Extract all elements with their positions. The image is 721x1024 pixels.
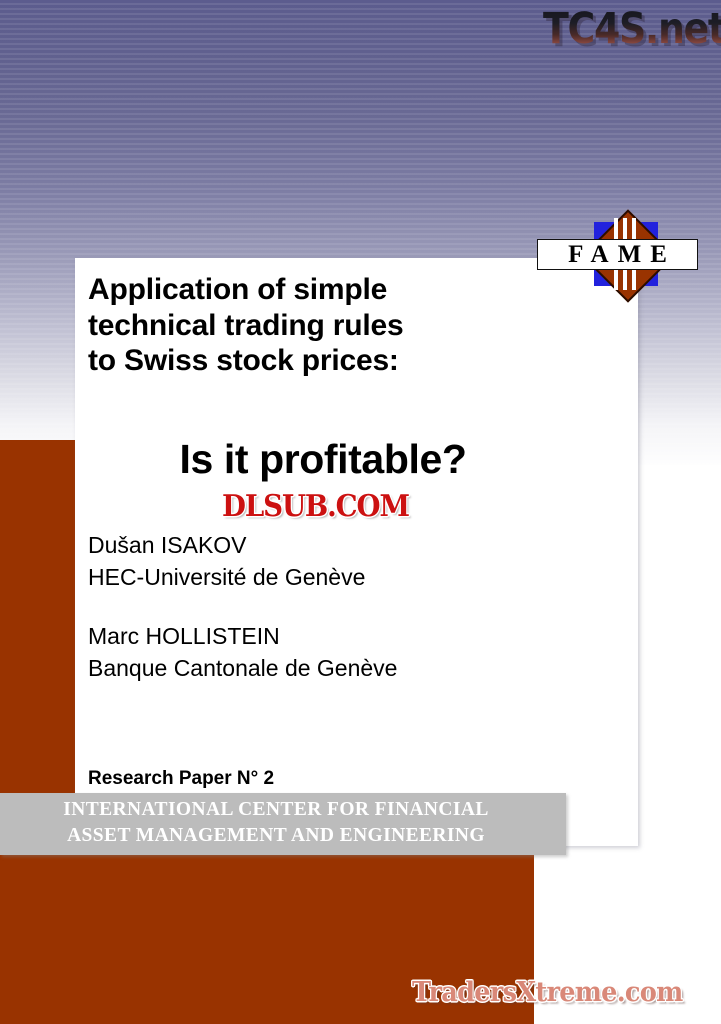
institution-banner-text: INTERNATIONAL CENTER FOR FINANCIAL ASSET…	[0, 797, 552, 850]
fame-logo-band: FAME	[537, 239, 698, 270]
fame-logo: FAME	[537, 198, 702, 310]
tradersxtreme-watermark: TradersXtreme.com	[412, 977, 682, 1008]
author-spacer	[88, 593, 548, 621]
institution-banner-line-1: INTERNATIONAL CENTER FOR FINANCIAL	[0, 797, 552, 823]
document-cover-page: FAME Application of simple technical tra…	[0, 0, 721, 1024]
author-block: Dušan ISAKOV HEC-Université de Genève Ma…	[88, 530, 548, 685]
page-title: Application of simple technical trading …	[88, 272, 508, 379]
dlsub-watermark: DLSUB.COM	[222, 489, 409, 524]
research-paper-label: Research Paper N° 2	[88, 768, 274, 790]
author-2-affiliation: Banque Cantonale de Genève	[88, 653, 548, 685]
brown-left-block	[0, 440, 76, 794]
author-2-name: Marc HOLLISTEIN	[88, 621, 548, 653]
page-title-line-1: Application of simple	[88, 272, 508, 308]
tc4s-watermark: TC4S.net	[543, 4, 721, 54]
institution-banner-line-2: ASSET MANAGEMENT AND ENGINEERING	[0, 823, 552, 849]
author-1-name: Dušan ISAKOV	[88, 530, 548, 562]
page-title-line-2: technical trading rules	[88, 308, 508, 344]
page-title-line-3: to Swiss stock prices:	[88, 343, 508, 379]
page-subtitle: Is it profitable?	[88, 436, 558, 483]
fame-logo-text: FAME	[559, 242, 676, 267]
author-1-affiliation: HEC-Université de Genève	[88, 562, 548, 594]
